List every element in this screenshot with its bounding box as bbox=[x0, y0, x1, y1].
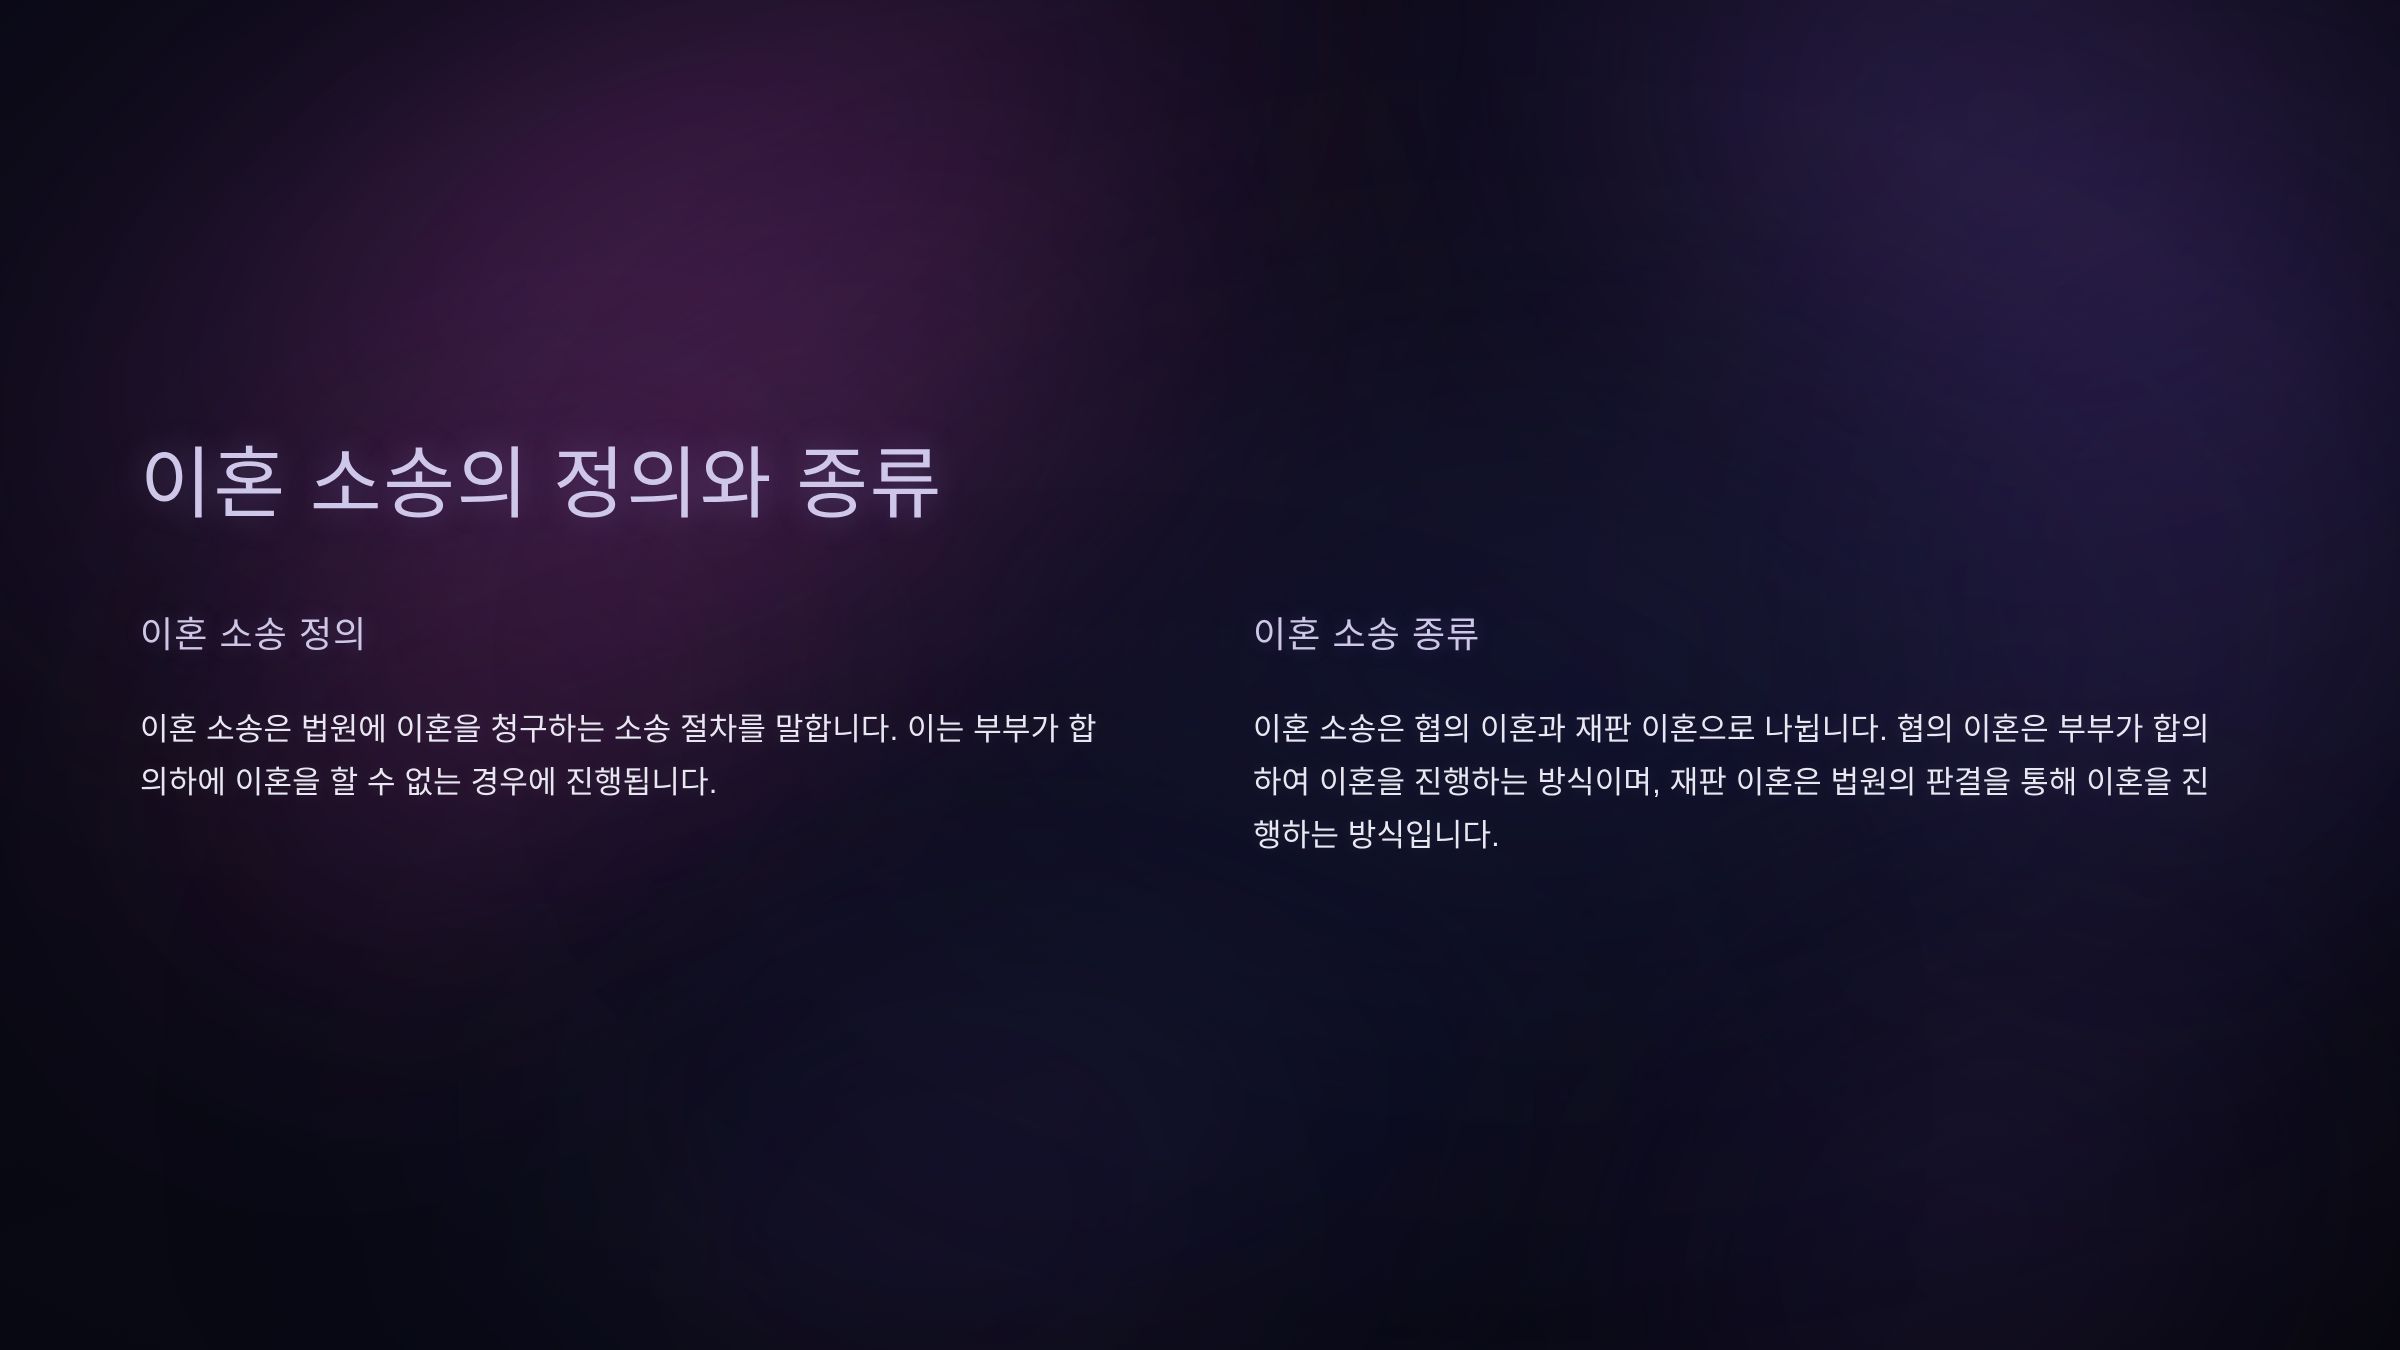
content-column-definition: 이혼 소송 정의 이혼 소송은 법원에 이혼을 청구하는 소송 절차를 말합니다… bbox=[140, 612, 1140, 863]
content-column-types: 이혼 소송 종류 이혼 소송은 협의 이혼과 재판 이혼으로 나뉩니다. 협의 … bbox=[1253, 612, 2253, 863]
column-heading-types: 이혼 소송 종류 bbox=[1253, 612, 2253, 659]
slide-content: 이혼 소송의 정의와 종류 이혼 소송 정의 이혼 소송은 법원에 이혼을 청구… bbox=[0, 0, 2400, 1350]
presentation-slide: 이혼 소송의 정의와 종류 이혼 소송 정의 이혼 소송은 법원에 이혼을 청구… bbox=[0, 0, 2400, 1350]
column-body-types: 이혼 소송은 협의 이혼과 재판 이혼으로 나뉩니다. 협의 이혼은 부부가 합… bbox=[1253, 703, 2238, 863]
slide-columns: 이혼 소송 정의 이혼 소송은 법원에 이혼을 청구하는 소송 절차를 말합니다… bbox=[140, 612, 2290, 863]
slide-title: 이혼 소송의 정의와 종류 bbox=[140, 438, 943, 530]
column-body-definition: 이혼 소송은 법원에 이혼을 청구하는 소송 절차를 말합니다. 이는 부부가 … bbox=[140, 703, 1125, 810]
column-heading-definition: 이혼 소송 정의 bbox=[140, 612, 1140, 659]
